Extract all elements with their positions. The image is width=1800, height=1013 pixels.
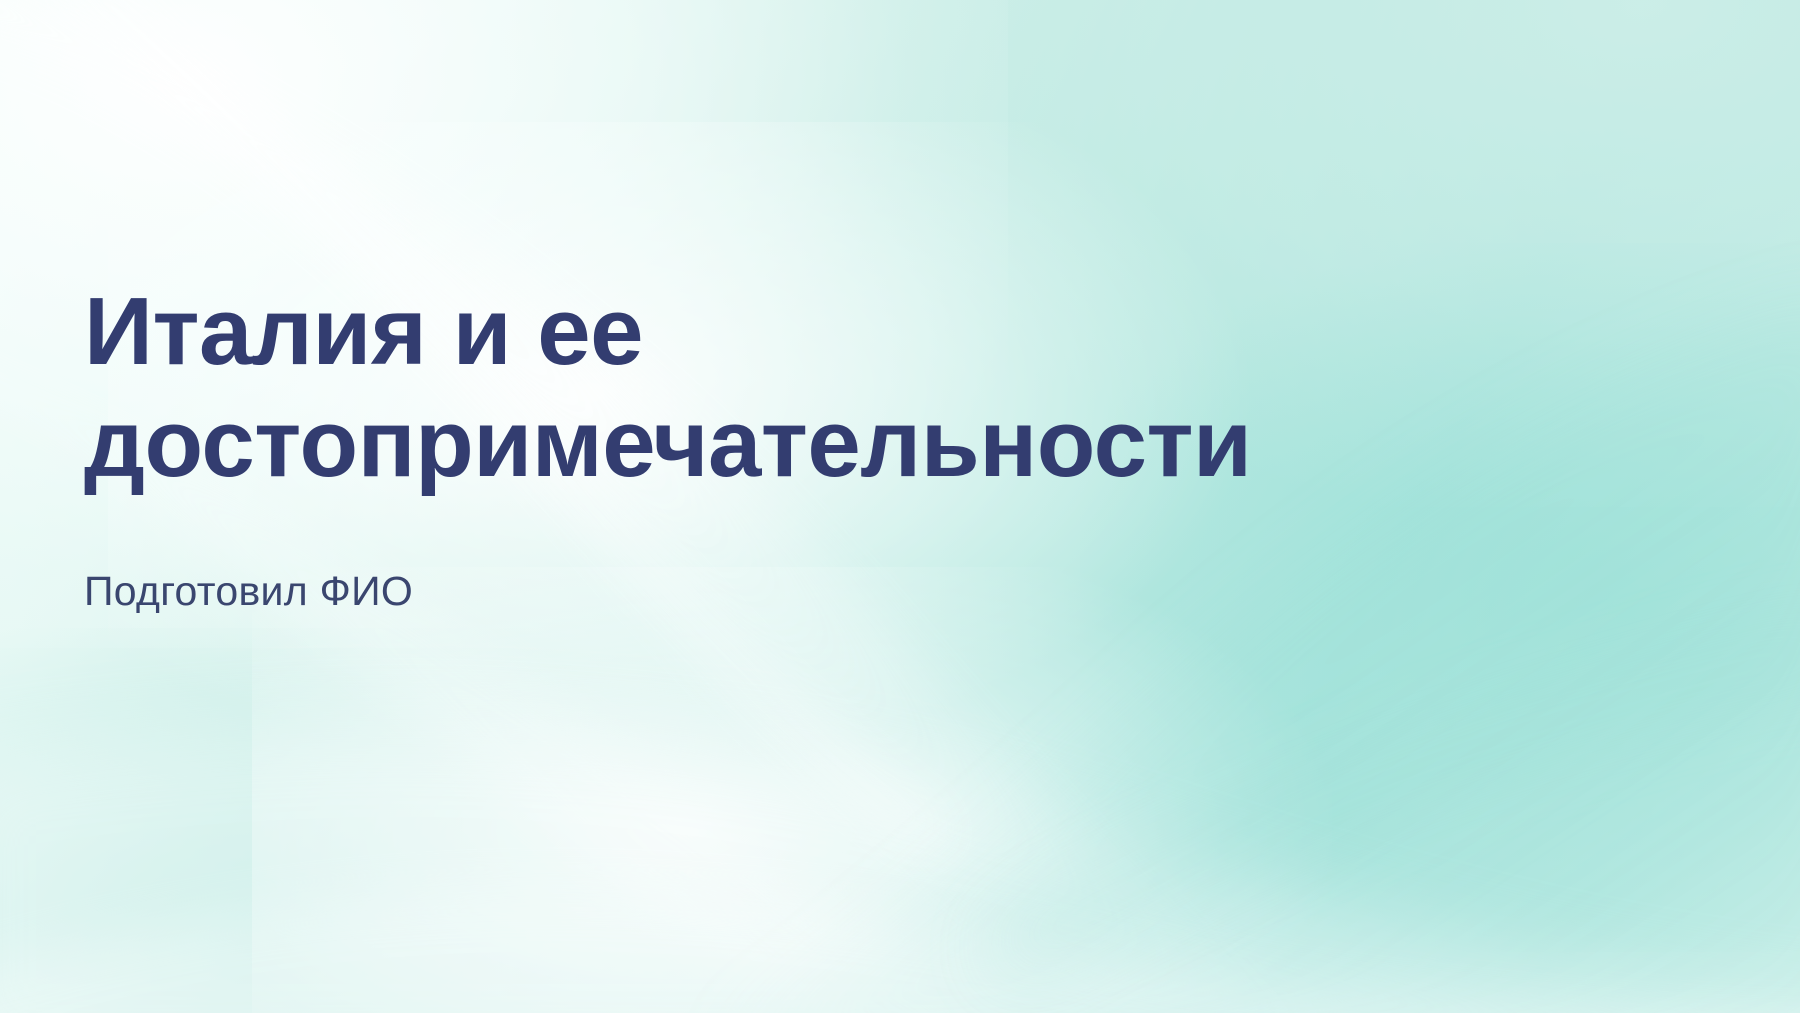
slide-subtitle: Подготовил ФИО — [84, 501, 1584, 615]
page-title: Италия и ее достопримечательности — [84, 276, 1504, 501]
slide-content: Италия и ее достопримечательности Подгот… — [84, 276, 1584, 615]
presentation-slide: Италия и ее достопримечательности Подгот… — [0, 0, 1800, 1013]
